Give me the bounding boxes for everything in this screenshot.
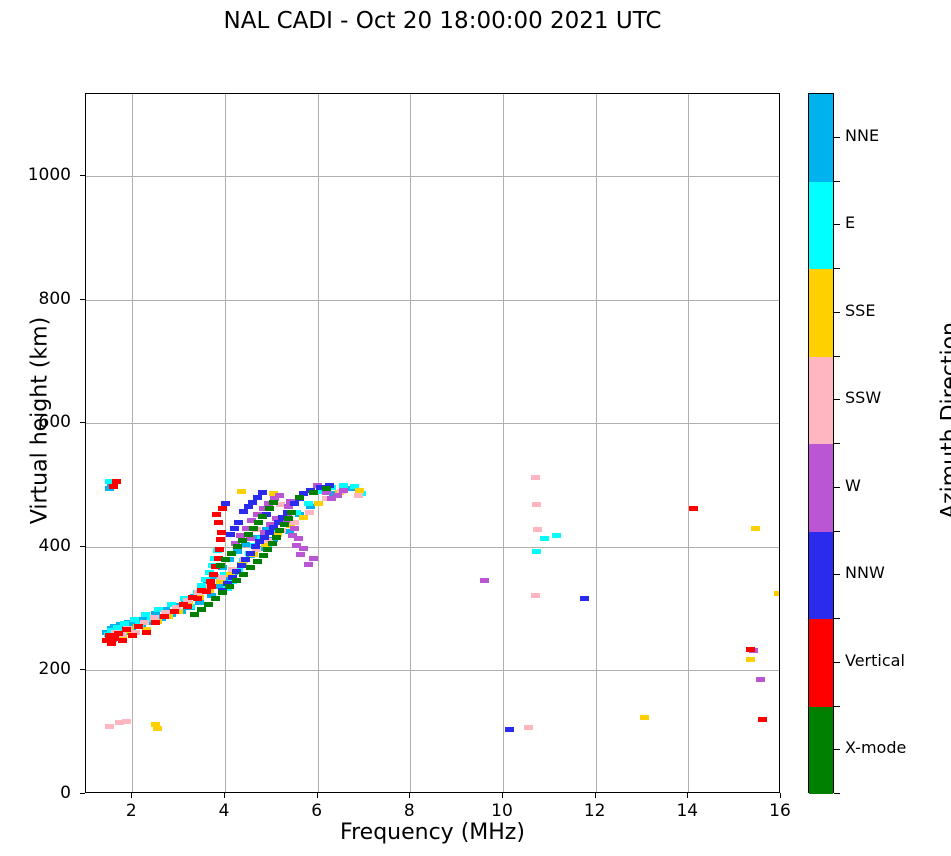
echo-mark [280, 522, 289, 527]
x-tick [224, 793, 225, 798]
colorbar-band-sse [809, 269, 833, 357]
echo-mark [204, 602, 213, 607]
echo-mark [258, 490, 267, 495]
echo-mark [246, 565, 255, 570]
azimuth-colorbar [808, 93, 834, 793]
colorbar-label-nnw: NNW [845, 563, 885, 582]
colorbar-boundary-tick [834, 793, 840, 794]
colorbar-band-e [809, 182, 833, 270]
echo-mark [254, 520, 263, 525]
colorbar-tick [834, 224, 840, 225]
echo-mark [295, 495, 304, 500]
colorbar-band-vertical [809, 619, 833, 707]
echo-mark [183, 604, 192, 609]
echo-mark [128, 633, 137, 638]
y-tick-label: 1000 [1, 165, 71, 185]
echo-mark [287, 510, 296, 515]
colorbar-band-ssw [809, 357, 833, 445]
echo-mark [524, 725, 533, 730]
echo-mark [751, 526, 760, 531]
y-tick [80, 793, 85, 794]
echo-mark [193, 596, 202, 601]
echo-mark [217, 575, 226, 580]
echo-mark [142, 630, 151, 635]
echo-mark [339, 488, 348, 493]
colorbar-tick [834, 137, 840, 138]
x-tick-label: 4 [194, 801, 254, 821]
echo-mark [540, 536, 549, 541]
echo-mark [532, 502, 541, 507]
echo-mark [122, 719, 131, 724]
colorbar-boundary-tick [834, 706, 840, 707]
echo-mark [211, 596, 220, 601]
colorbar-tick [834, 662, 840, 663]
echo-mark [532, 549, 541, 554]
echo-mark [746, 657, 755, 662]
echo-mark [505, 727, 514, 732]
x-tick [687, 793, 688, 798]
echo-mark [232, 578, 241, 583]
echo-mark [253, 559, 262, 564]
colorbar-boundary-tick [834, 268, 840, 269]
colorbar-title: Azimuth Direction [938, 271, 951, 571]
x-tick-label: 2 [101, 801, 161, 821]
echo-mark [305, 510, 314, 515]
colorbar-boundary-tick [834, 531, 840, 532]
colorbar-boundary-tick [834, 443, 840, 444]
colorbar-label-sse: SSE [845, 301, 875, 320]
echo-mark [253, 495, 262, 500]
echo-mark [212, 512, 221, 517]
echo-mark [259, 553, 268, 558]
y-tick [80, 422, 85, 423]
x-tick-label: 10 [472, 801, 532, 821]
echo-mark [118, 638, 127, 643]
echo-mark [268, 541, 277, 546]
echo-mark [238, 538, 247, 543]
colorbar-tick [834, 312, 840, 313]
echo-mark [258, 514, 267, 519]
echo-mark [214, 520, 223, 525]
echo-mark [218, 506, 227, 511]
colorbar-label-nne: NNE [845, 126, 879, 145]
echo-mark [218, 590, 227, 595]
plot-axes [85, 93, 780, 793]
echo-mark [640, 715, 649, 720]
colorbar-tick [834, 749, 840, 750]
echo-mark [227, 551, 236, 556]
echo-mark [756, 677, 765, 682]
echo-mark [309, 556, 318, 561]
echo-mark [246, 551, 255, 556]
echo-mark [354, 493, 363, 498]
y-tick-label: 200 [1, 659, 71, 679]
echo-mark [314, 501, 323, 506]
echo-mark [296, 552, 305, 557]
echo-mark [248, 500, 257, 505]
echo-mark [237, 489, 246, 494]
echo-mark [322, 486, 331, 491]
echo-mark [290, 501, 299, 506]
echo-mark [239, 572, 248, 577]
x-tick [595, 793, 596, 798]
echo-mark [151, 620, 160, 625]
page-title: NAL CADI - Oct 20 18:00:00 2021 UTC [0, 8, 885, 34]
echo-mark [531, 475, 540, 480]
echo-mark [244, 532, 253, 537]
echo-mark [333, 493, 342, 498]
y-tick [80, 175, 85, 176]
x-tick [502, 793, 503, 798]
echo-mark [263, 547, 272, 552]
echo-mark [109, 484, 118, 489]
echo-mark [260, 535, 269, 540]
y-tick [80, 299, 85, 300]
echo-mark [304, 562, 313, 567]
echo-scatter-layer [86, 94, 779, 792]
echo-mark [202, 589, 211, 594]
echo-mark [531, 593, 540, 598]
y-tick-label: 0 [1, 783, 71, 803]
echo-mark [480, 578, 489, 583]
echo-mark [290, 526, 299, 531]
echo-mark [746, 647, 755, 652]
colorbar-boundary-tick [834, 618, 840, 619]
echo-mark [284, 516, 293, 521]
echo-mark [216, 537, 225, 542]
ionogram-figure: NAL CADI - Oct 20 18:00:00 2021 UTC 2468… [0, 0, 951, 856]
echo-mark [552, 533, 561, 538]
colorbar-band-nnw [809, 532, 833, 620]
colorbar-label-e: E [845, 213, 855, 232]
echo-mark [134, 624, 143, 629]
echo-mark [160, 614, 169, 619]
x-tick-label: 16 [750, 801, 810, 821]
echo-mark [265, 506, 274, 511]
echo-mark [233, 544, 242, 549]
echo-mark [225, 584, 234, 589]
echo-mark [122, 627, 131, 632]
echo-mark [309, 490, 318, 495]
colorbar-boundary-tick [834, 356, 840, 357]
echo-mark [153, 726, 162, 731]
echo-mark [221, 557, 230, 562]
echo-mark [237, 563, 246, 568]
x-tick-label: 6 [287, 801, 347, 821]
y-axis-label: Virtual height (km) [28, 271, 53, 571]
x-tick-label: 14 [657, 801, 717, 821]
x-tick-label: 8 [379, 801, 439, 821]
x-tick [131, 793, 132, 798]
echo-mark [299, 546, 308, 551]
echo-mark [230, 526, 239, 531]
echo-mark [239, 509, 248, 514]
echo-mark [249, 526, 258, 531]
echo-mark [533, 527, 542, 532]
echo-mark [215, 547, 224, 552]
colorbar-band-nne [809, 94, 833, 182]
colorbar-tick [834, 574, 840, 575]
colorbar-tick [834, 399, 840, 400]
echo-mark [190, 612, 199, 617]
echo-mark [107, 641, 116, 646]
echo-mark [112, 479, 121, 484]
echo-mark [580, 596, 589, 601]
x-tick [317, 793, 318, 798]
echo-mark [294, 536, 303, 541]
echo-mark [758, 717, 767, 722]
echo-mark [217, 530, 226, 535]
colorbar-tick [834, 487, 840, 488]
colorbar-band-x-mode [809, 707, 833, 795]
echo-mark [272, 535, 281, 540]
y-tick [80, 669, 85, 670]
y-tick [80, 546, 85, 547]
x-tick-label: 12 [565, 801, 625, 821]
echo-mark [275, 528, 284, 533]
echo-mark [299, 515, 308, 520]
echo-mark [226, 532, 235, 537]
echo-mark [234, 520, 243, 525]
echo-mark [275, 493, 284, 498]
echo-mark [269, 500, 278, 505]
echo-mark [304, 501, 313, 506]
echo-mark [251, 544, 260, 549]
echo-mark [689, 506, 698, 511]
echo-mark [216, 563, 225, 568]
colorbar-label-ssw: SSW [845, 388, 881, 407]
colorbar-label-w: W [845, 476, 861, 495]
echo-mark [170, 609, 179, 614]
colorbar-boundary-tick [834, 181, 840, 182]
colorbar-label-vertical: Vertical [845, 651, 905, 670]
echo-mark [774, 591, 779, 596]
x-tick [409, 793, 410, 798]
echo-mark [241, 557, 250, 562]
echo-mark [209, 572, 218, 577]
echo-mark [255, 539, 264, 544]
x-tick [780, 793, 781, 798]
colorbar-label-x-mode: X-mode [845, 738, 906, 757]
echo-mark [105, 724, 114, 729]
x-axis-label: Frequency (MHz) [85, 820, 780, 845]
colorbar-band-w [809, 444, 833, 532]
echo-mark [197, 607, 206, 612]
